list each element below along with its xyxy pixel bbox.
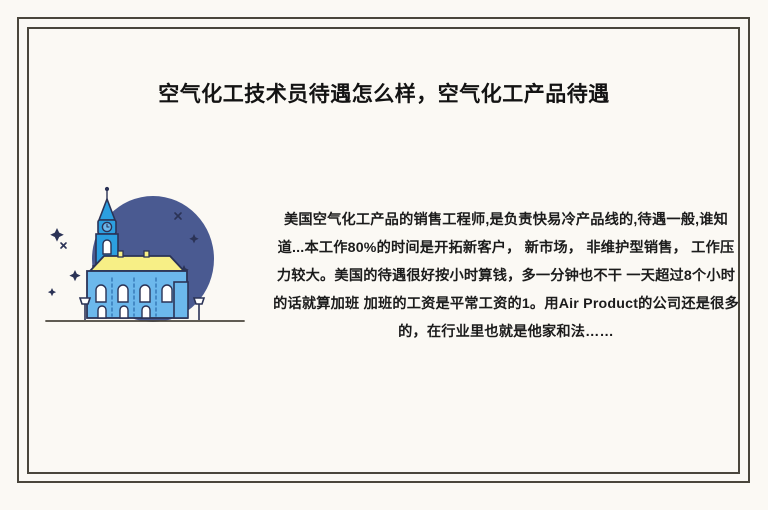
night-church-illustration <box>44 186 266 336</box>
illustration-container <box>44 186 266 336</box>
page-title: 空气化工技术员待遇怎么样，空气化工产品待遇 <box>0 80 768 110</box>
article-paragraph: 美国空气化工产品的销售工程师,是负责快易冷产品线的,待遇一般,谁知道...本工作… <box>272 206 740 346</box>
article-body: 美国空气化工产品的销售工程师,是负责快易冷产品线的,待遇一般,谁知道...本工作… <box>272 206 740 346</box>
church-main-hall <box>87 251 188 318</box>
poster-page: 空气化工技术员待遇怎么样，空气化工产品待遇 <box>0 0 768 510</box>
lamp-post-right <box>194 298 204 320</box>
